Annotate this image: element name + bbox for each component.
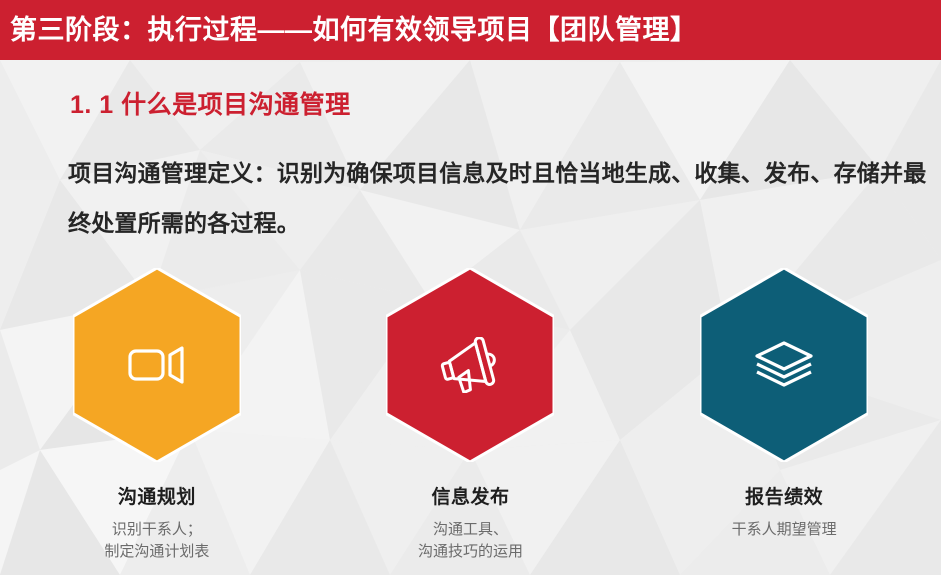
hexagon-item-communication-planning: 沟通规划 识别干系人； 制定沟通计划表 — [0, 268, 314, 568]
hexagon-badge-3 — [700, 268, 868, 462]
slide-canvas: 第三阶段：执行过程——如何有效领导项目【团队管理】 1. 1 什么是项目沟通管理… — [0, 0, 941, 575]
hexagon-title-3: 报告绩效 — [745, 482, 823, 509]
hexagon-item-performance-reporting: 报告绩效 干系人期望管理 — [627, 268, 941, 568]
slide-title-bar: 第三阶段：执行过程——如何有效领导项目【团队管理】 — [0, 0, 941, 60]
slide-title: 第三阶段：执行过程——如何有效领导项目【团队管理】 — [0, 17, 698, 44]
hexagon-row: 沟通规划 识别干系人； 制定沟通计划表 — [0, 268, 941, 568]
video-camera-icon — [73, 268, 241, 462]
hexagon-subtitle-3: 干系人期望管理 — [732, 519, 837, 541]
hexagon-title-1: 沟通规划 — [118, 482, 196, 509]
hexagon-badge-1 — [73, 268, 241, 462]
hexagon-badge-2 — [386, 268, 554, 462]
definition-paragraph: 项目沟通管理定义：识别为确保项目信息及时且恰当地生成、收集、发布、存储并最终处置… — [68, 148, 938, 248]
hexagon-subtitle-2: 沟通工具、 沟通技巧的运用 — [418, 519, 523, 563]
hexagon-item-information-distribution: 信息发布 沟通工具、 沟通技巧的运用 — [314, 268, 628, 568]
section-heading: 1. 1 什么是项目沟通管理 — [70, 85, 351, 121]
hexagon-subtitle-1: 识别干系人； 制定沟通计划表 — [104, 519, 209, 563]
megaphone-icon — [386, 268, 554, 462]
hexagon-title-2: 信息发布 — [431, 482, 509, 509]
layers-icon — [700, 268, 868, 462]
